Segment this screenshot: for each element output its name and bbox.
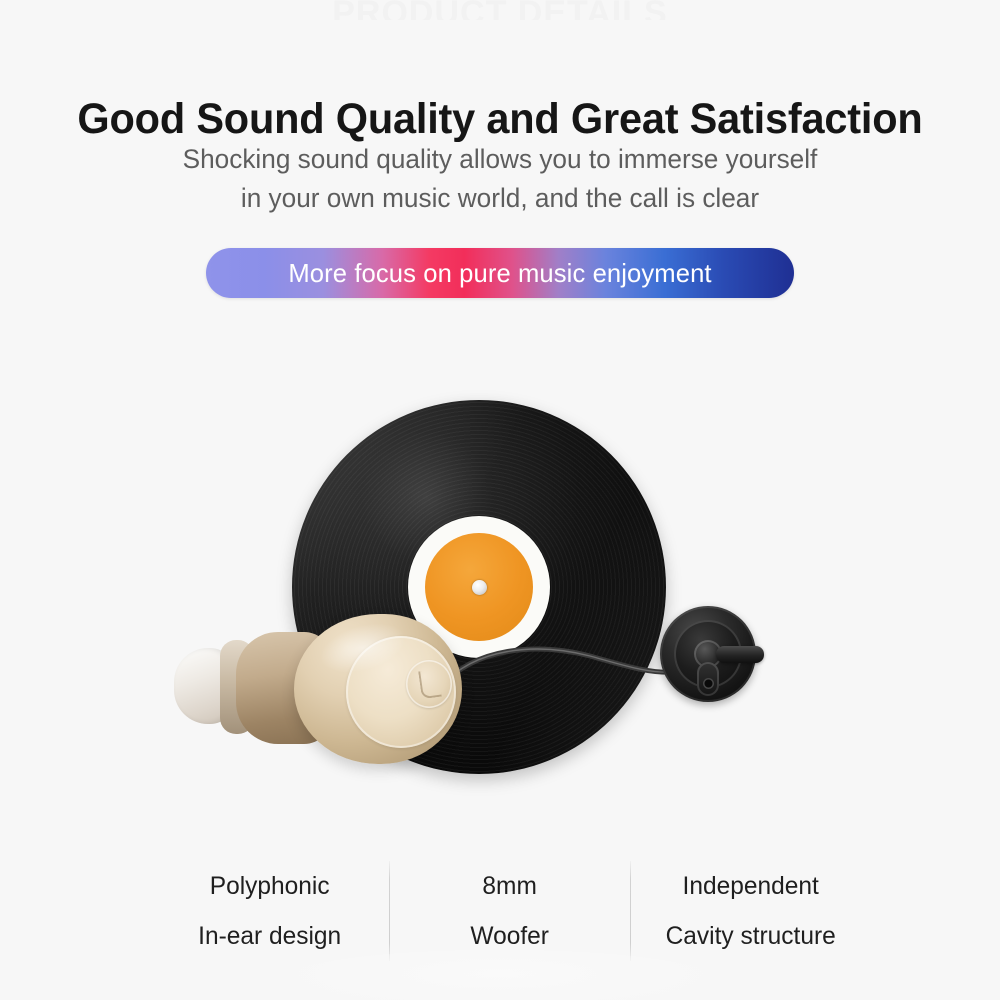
wireless-earbud — [170, 610, 490, 770]
tagline-badge: More focus on pure music enjoyment — [206, 248, 794, 298]
tonearm-foot-hole — [703, 678, 714, 689]
feature-3-line-1: Independent — [633, 861, 868, 911]
page-title: Good Sound Quality and Great Satisfactio… — [18, 93, 983, 145]
subtitle-line-1: Shocking sound quality allows you to imm… — [15, 140, 985, 179]
subtitle-line-2: in your own music world, and the call is… — [15, 179, 985, 218]
feature-item-polyphonic: Polyphonic In-ear design — [150, 861, 389, 961]
product-illustration — [0, 380, 1000, 810]
feature-row: Polyphonic In-ear design 8mm Woofer Inde… — [150, 856, 870, 966]
product-feature-banner: PRODUCT DETAILS Good Sound Quality and G… — [0, 0, 1000, 1000]
tagline-badge-label: More focus on pure music enjoyment — [210, 248, 789, 298]
feature-item-woofer: 8mm Woofer — [390, 861, 629, 961]
feature-1-line-2: In-ear design — [152, 911, 387, 961]
subtitle: Shocking sound quality allows you to imm… — [15, 140, 985, 218]
feature-3-line-2: Cavity structure — [633, 911, 868, 961]
feature-2-line-1: 8mm — [393, 861, 628, 911]
feature-1-line-1: Polyphonic — [152, 861, 387, 911]
feature-item-cavity: Independent Cavity structure — [631, 861, 870, 961]
turntable-tonearm-base — [660, 606, 764, 710]
record-spindle-hole — [472, 580, 487, 595]
cropped-top-text-artifact: PRODUCT DETAILS — [0, 0, 1000, 20]
tonearm-counterweight-shaft — [716, 646, 764, 663]
feature-2-line-2: Woofer — [393, 911, 628, 961]
earbud-button-glyph-icon — [418, 669, 442, 700]
